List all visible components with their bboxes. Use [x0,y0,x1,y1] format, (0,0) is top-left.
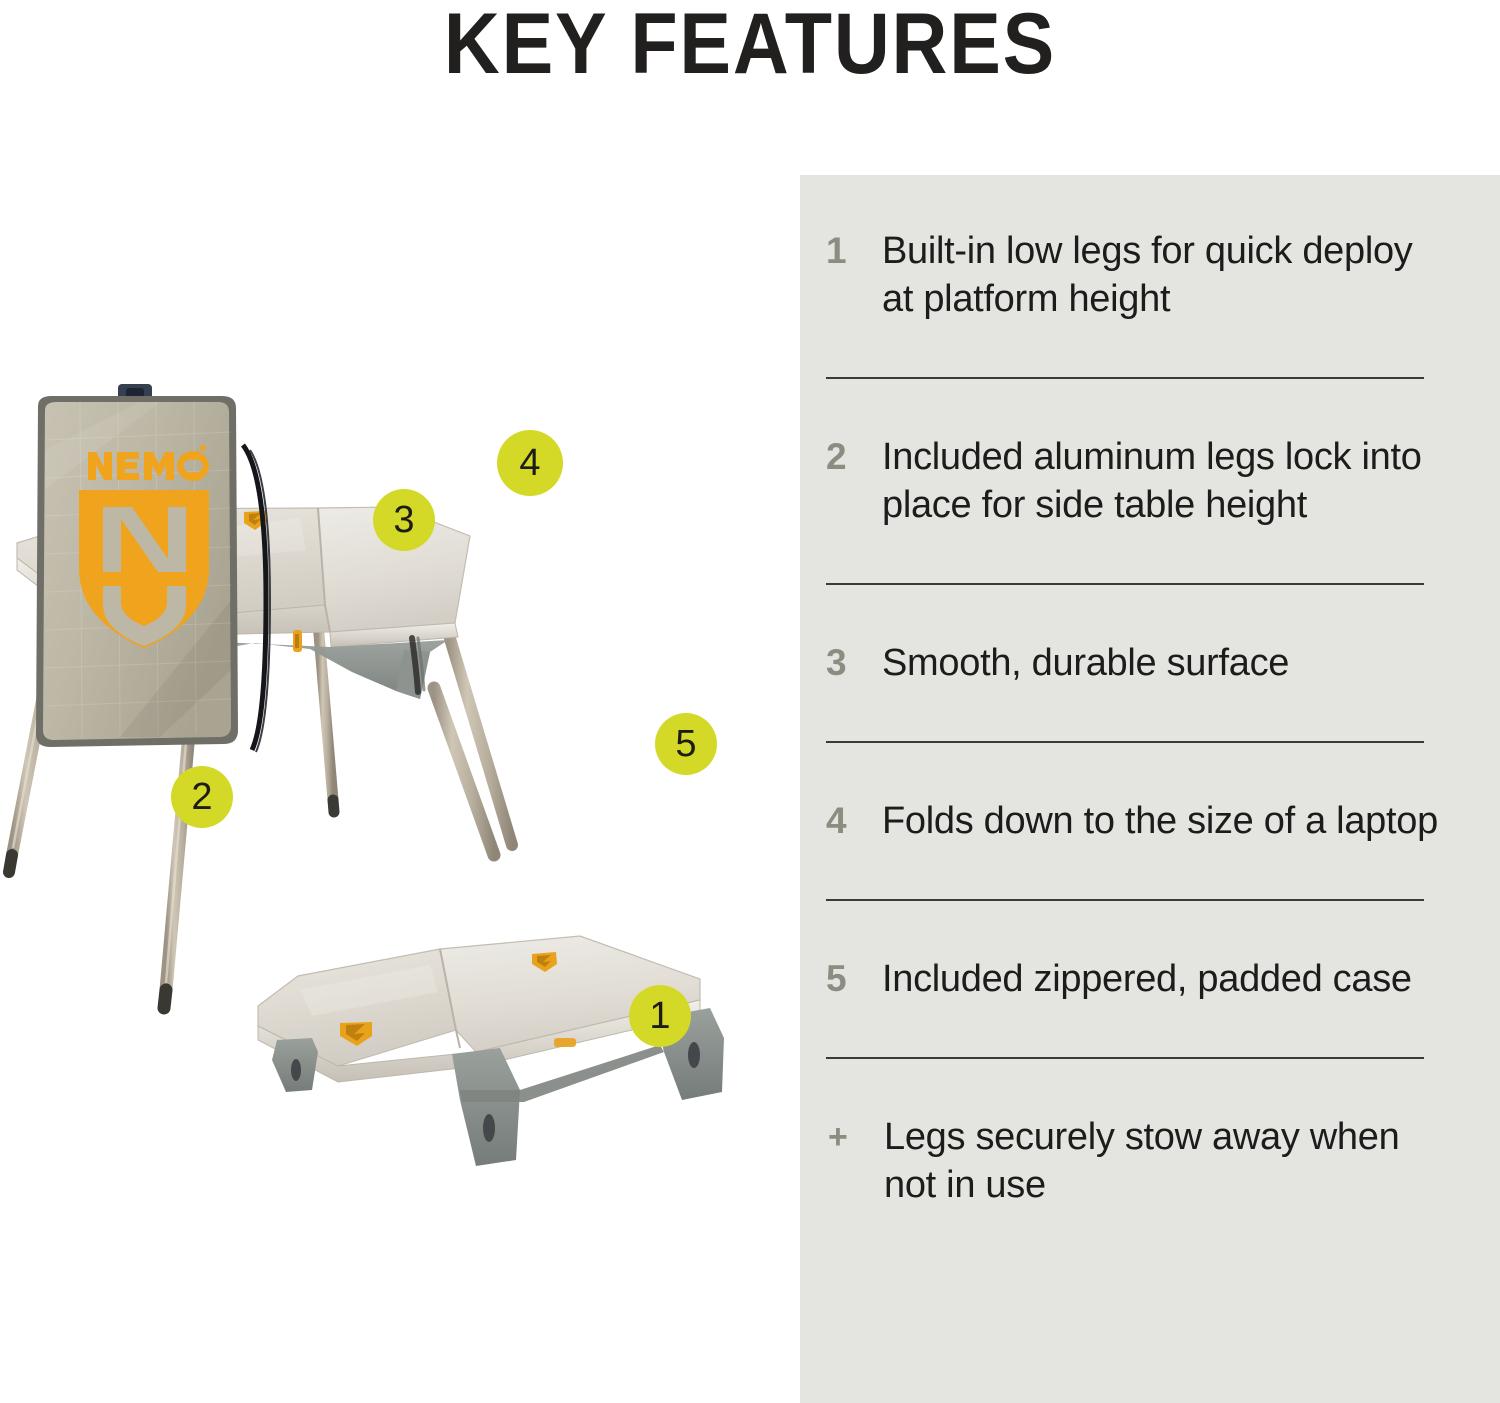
spacer [826,529,1446,583]
center-zipper-pull [293,630,302,652]
spacer [826,687,1446,741]
feature-item-4: 4 Folds down to the size of a laptop [826,797,1446,845]
spacer [826,901,1446,955]
feature-text-1: Built-in low legs for quick deploy at pl… [882,227,1446,323]
callout-badge-3[interactable]: 3 [373,489,435,551]
feature-list: 1 Built-in low legs for quick deploy at … [826,175,1446,1209]
feature-text-5: Included zippered, padded case [882,955,1446,1003]
callout-badge-2[interactable]: 2 [171,766,233,828]
feature-panel: 1 Built-in low legs for quick deploy at … [800,175,1500,1403]
spacer [826,743,1446,797]
spacer [826,845,1446,899]
feature-marker-5: 5 [826,955,882,1003]
feature-item-1: 1 Built-in low legs for quick deploy at … [826,227,1446,323]
feature-marker-plus: + [826,1113,884,1161]
callout-badge-4[interactable]: 4 [497,430,563,496]
callout-badge-5[interactable]: 5 [655,713,717,775]
feature-marker-1: 1 [826,227,882,275]
feature-item-2: 2 Included aluminum legs lock into place… [826,433,1446,529]
feature-item-3: 3 Smooth, durable surface [826,639,1446,687]
feature-marker-4: 4 [826,797,882,845]
feature-text-2: Included aluminum legs lock into place f… [882,433,1446,529]
feature-text-plus: Legs securely stow away when not in use [884,1113,1446,1209]
spacer [826,379,1446,433]
panel-top-spacer [826,175,1446,227]
spacer [826,1059,1446,1113]
callout-badge-1[interactable]: 1 [629,985,691,1047]
feature-marker-2: 2 [826,433,882,481]
feature-item-plus: + Legs securely stow away when not in us… [826,1113,1446,1209]
feature-text-4: Folds down to the size of a laptop [882,797,1446,845]
feature-item-5: 5 Included zippered, padded case [826,955,1446,1003]
feature-text-3: Smooth, durable surface [882,639,1446,687]
spacer [826,323,1446,377]
low-table-zipper [554,1038,576,1047]
carry-case [36,384,270,752]
feature-marker-3: 3 [826,639,882,687]
spacer [826,585,1446,639]
page-title: KEY FEATURES [75,0,1425,90]
spacer [826,1003,1446,1057]
